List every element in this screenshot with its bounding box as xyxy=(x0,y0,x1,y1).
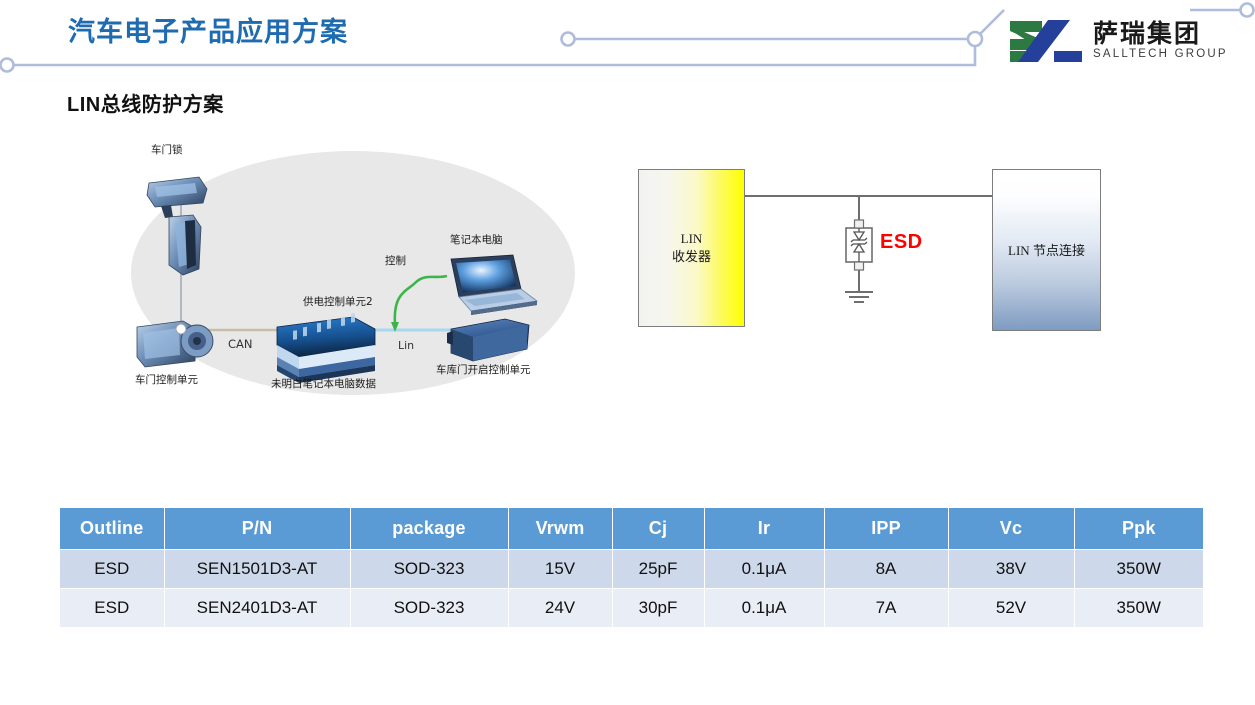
label-control: 控制 xyxy=(385,254,406,267)
col-header-vc: Vc xyxy=(948,508,1074,549)
logo-english-name: SALLTECH GROUP xyxy=(1093,49,1228,61)
page-title: 汽车电子产品应用方案 xyxy=(68,10,348,49)
salltech-logo-icon xyxy=(1008,18,1086,64)
product-spec-table: Outline P/N package Vrwm Cj Ir IPP Vc Pp… xyxy=(60,508,1203,628)
col-header-outline: Outline xyxy=(60,508,164,549)
table-header-row: Outline P/N package Vrwm Cj Ir IPP Vc Pp… xyxy=(60,508,1203,549)
cell-ipp: 7A xyxy=(824,588,948,627)
esd-label: ESD xyxy=(880,231,923,254)
cell-package: SOD-323 xyxy=(350,549,508,588)
label-can: CAN xyxy=(228,337,253,351)
col-header-package: package xyxy=(350,508,508,549)
cell-pn: SEN2401D3-AT xyxy=(164,588,350,627)
lin-protection-circuit: LIN 收发器 LIN 节点连接 xyxy=(620,150,1130,365)
company-logo: 萨瑞集团 SALLTECH GROUP xyxy=(1008,18,1228,64)
label-door-control-unit: 车门控制单元 xyxy=(135,373,198,386)
table-row: ESD SEN2401D3-AT SOD-323 24V 30pF 0.1μA … xyxy=(60,588,1203,627)
deco-node-left xyxy=(1,59,14,72)
label-door-lock: 车门锁 xyxy=(151,143,183,156)
actuator-device xyxy=(169,215,201,275)
cell-vc: 38V xyxy=(948,549,1074,588)
label-lin: Lin xyxy=(398,339,414,352)
col-header-cj: Cj xyxy=(612,508,704,549)
slide-root: 汽车电子产品应用方案 萨瑞集团 SALLTECH GROUP LIN总线防护方案 xyxy=(0,0,1255,705)
section-heading: LIN总线防护方案 xyxy=(67,88,224,117)
cell-ir: 0.1μA xyxy=(704,588,824,627)
lin-network-illustration: 车门锁 车门控制单元 CAN 供电控制单元2 未明白笔记本电脑数据 Lin 控制… xyxy=(95,133,595,408)
table-row: ESD SEN1501D3-AT SOD-323 15V 25pF 0.1μA … xyxy=(60,549,1203,588)
col-header-ipp: IPP xyxy=(824,508,948,549)
col-header-vrwm: Vrwm xyxy=(508,508,612,549)
cell-vc: 52V xyxy=(948,588,1074,627)
cell-vrwm: 24V xyxy=(508,588,612,627)
label-laptop: 笔记本电脑 xyxy=(450,233,503,246)
cell-ir: 0.1μA xyxy=(704,549,824,588)
cell-cj: 30pF xyxy=(612,588,704,627)
cell-vrwm: 15V xyxy=(508,549,612,588)
cell-pn: SEN1501D3-AT xyxy=(164,549,350,588)
cell-outline: ESD xyxy=(60,588,164,627)
label-laptop-data: 未明白笔记本电脑数据 xyxy=(271,377,376,390)
circuit-wiring xyxy=(620,150,1130,365)
deco-node-junction xyxy=(968,32,982,46)
cell-outline: ESD xyxy=(60,549,164,588)
col-header-pn: P/N xyxy=(164,508,350,549)
cell-ppk: 350W xyxy=(1074,588,1203,627)
cell-ipp: 8A xyxy=(824,549,948,588)
deco-node-mid xyxy=(562,33,575,46)
cell-ppk: 350W xyxy=(1074,549,1203,588)
cell-cj: 25pF xyxy=(612,549,704,588)
logo-chinese-name: 萨瑞集团 xyxy=(1093,21,1228,46)
label-power-control-unit-2: 供电控制单元2 xyxy=(303,295,373,308)
label-garage-door-unit: 车库门开启控制单元 xyxy=(436,363,531,376)
col-header-ir: Ir xyxy=(704,508,824,549)
col-header-ppk: Ppk xyxy=(1074,508,1203,549)
cell-package: SOD-323 xyxy=(350,588,508,627)
deco-node-right xyxy=(1241,4,1254,17)
